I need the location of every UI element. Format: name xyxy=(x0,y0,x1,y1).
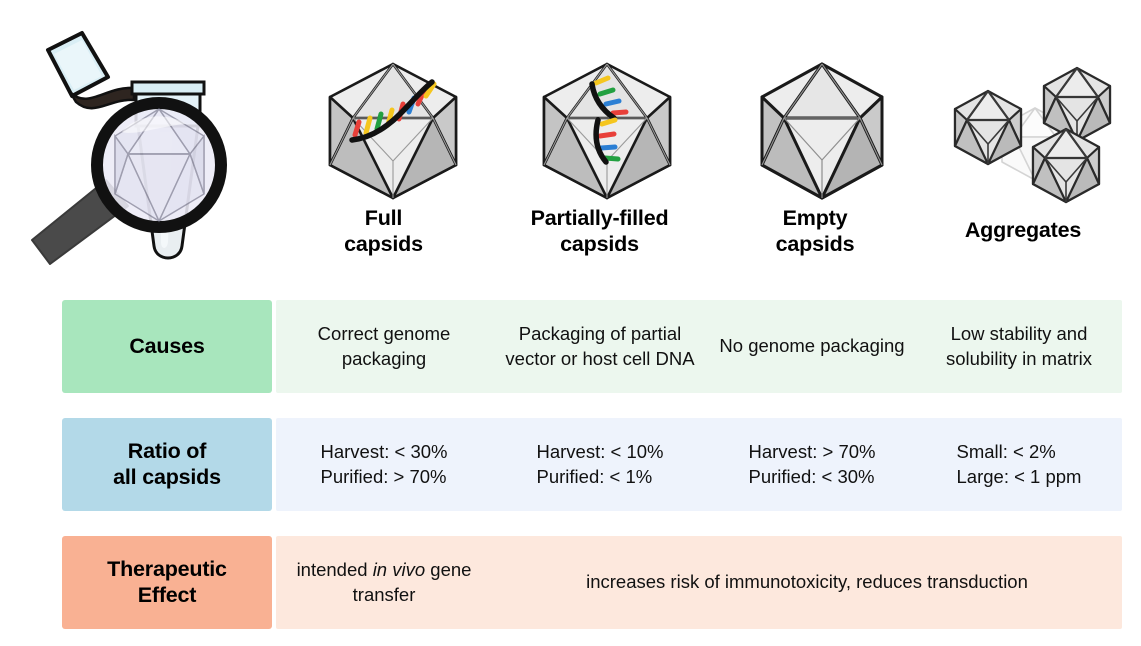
row-label-therapeutic-effect: Therapeutic Effect xyxy=(62,536,272,629)
row-label-effect-line2: Effect xyxy=(107,583,227,609)
cell-ratio-aggregates: Small: < 2% Large: < 1 ppm xyxy=(916,418,1122,511)
cell-effect-merged: increases risk of immunotoxicity, reduce… xyxy=(492,536,1122,629)
cell-ratio-partial-line1: Harvest: < 10% xyxy=(537,440,664,464)
aggregates-illustration xyxy=(940,56,1130,211)
cell-causes-aggregates: Low stability and solubility in matrix xyxy=(916,300,1122,393)
cell-effect-full: intended in vivo gene transfer xyxy=(276,536,492,629)
column-header-empty-line2: capsids xyxy=(712,231,918,257)
cell-causes-full: Correct genome packaging xyxy=(276,300,492,393)
cell-ratio-aggregates-line2: Large: < 1 ppm xyxy=(957,465,1082,489)
row-cells-therapeutic-effect: intended in vivo gene transfer increases… xyxy=(276,536,1122,629)
column-header-aggregates: Aggregates xyxy=(918,217,1128,243)
column-header-partial: Partially-filled capsids xyxy=(492,205,707,257)
row-label-ratio-line1: Ratio of xyxy=(113,439,221,465)
column-header-full-line2: capsids xyxy=(276,231,491,257)
empty-capsid-illustration xyxy=(742,56,902,206)
column-header-full: Full capsids xyxy=(276,205,491,257)
column-header-empty-line1: Empty xyxy=(712,205,918,231)
table-row-causes: Causes Correct genome packaging Packagin… xyxy=(62,300,1122,393)
row-label-causes-text: Causes xyxy=(129,334,204,360)
row-label-ratio: Ratio of all capsids xyxy=(62,418,272,511)
column-header-partial-line2: capsids xyxy=(492,231,707,257)
column-header-aggregates-line1: Aggregates xyxy=(918,217,1128,243)
partial-capsid-illustration xyxy=(522,56,692,206)
row-label-ratio-line2: all capsids xyxy=(113,465,221,491)
table-row-therapeutic-effect: Therapeutic Effect intended in vivo gene… xyxy=(62,536,1122,629)
row-label-causes: Causes xyxy=(62,300,272,393)
column-header-partial-line1: Partially-filled xyxy=(492,205,707,231)
cell-ratio-full-line1: Harvest: < 30% xyxy=(321,440,448,464)
cell-ratio-full: Harvest: < 30% Purified: > 70% xyxy=(276,418,492,511)
column-header-full-line1: Full xyxy=(276,205,491,231)
cell-ratio-full-line2: Purified: > 70% xyxy=(321,465,448,489)
row-cells-causes: Correct genome packaging Packaging of pa… xyxy=(276,300,1122,393)
cell-effect-full-pre: intended xyxy=(297,559,373,580)
magnifier-lens-icon xyxy=(97,103,221,227)
row-label-effect-line1: Therapeutic xyxy=(107,557,227,583)
cell-causes-partial: Packaging of partial vector or host cell… xyxy=(492,300,708,393)
tube-cap-icon xyxy=(48,33,134,108)
capsid-comparison-table: Causes Correct genome packaging Packagin… xyxy=(62,300,1122,629)
cell-effect-full-italic: in vivo xyxy=(373,559,425,580)
row-cells-ratio: Harvest: < 30% Purified: > 70% Harvest: … xyxy=(276,418,1122,511)
cell-ratio-aggregates-line1: Small: < 2% xyxy=(957,440,1082,464)
sample-tube-magnifier-illustration xyxy=(10,14,295,289)
cell-ratio-empty: Harvest: > 70% Purified: < 30% xyxy=(708,418,916,511)
cell-ratio-partial-line2: Purified: < 1% xyxy=(537,465,664,489)
cell-causes-empty: No genome packaging xyxy=(708,300,916,393)
cell-ratio-empty-line2: Purified: < 30% xyxy=(749,465,876,489)
cell-ratio-empty-line1: Harvest: > 70% xyxy=(749,440,876,464)
cell-ratio-partial: Harvest: < 10% Purified: < 1% xyxy=(492,418,708,511)
full-capsid-illustration xyxy=(308,56,478,206)
column-header-empty: Empty capsids xyxy=(712,205,918,257)
table-row-ratio: Ratio of all capsids Harvest: < 30% Puri… xyxy=(62,418,1122,511)
